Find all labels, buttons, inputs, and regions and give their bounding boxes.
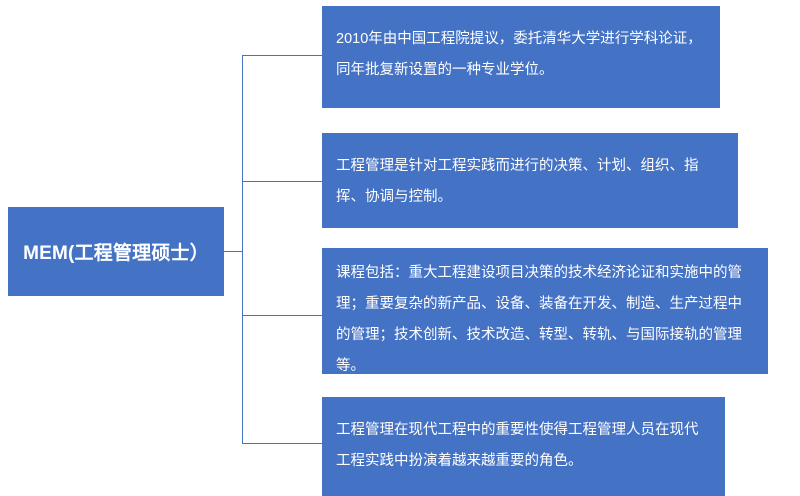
root-node-label: MEM(工程管理硕士） (23, 238, 209, 265)
branch-node-3[interactable]: 课程包括：重大工程建设项目决策的技术经济论证和实施中的管理；重要复杂的新产品、设… (322, 248, 768, 374)
diagram-canvas: MEM(工程管理硕士） 2010年由中国工程院提议，委托清华大学进行学科论证，同… (0, 0, 800, 496)
branch-node-1-text: 2010年由中国工程院提议，委托清华大学进行学科论证，同年批复新设置的一种专业学… (336, 24, 706, 86)
branch-node-4[interactable]: 工程管理在现代工程中的重要性使得工程管理人员在现代工程实践中扮演着越来越重要的角… (322, 397, 725, 496)
connector-branch-2 (242, 181, 322, 182)
connector-branch-3 (242, 315, 322, 316)
root-node[interactable]: MEM(工程管理硕士） (8, 207, 224, 296)
connector-branch-1 (242, 55, 322, 56)
branch-node-2-text: 工程管理是针对工程实践而进行的决策、计划、组织、指挥、协调与控制。 (336, 151, 724, 213)
branch-node-2[interactable]: 工程管理是针对工程实践而进行的决策、计划、组织、指挥、协调与控制。 (322, 133, 738, 228)
connector-trunk (242, 55, 243, 444)
connector-root-stub (224, 251, 242, 252)
connector-branch-4 (242, 443, 322, 444)
branch-node-4-text: 工程管理在现代工程中的重要性使得工程管理人员在现代工程实践中扮演着越来越重要的角… (336, 415, 711, 477)
branch-node-3-text: 课程包括：重大工程建设项目决策的技术经济论证和实施中的管理；重要复杂的新产品、设… (336, 258, 754, 382)
branch-node-1[interactable]: 2010年由中国工程院提议，委托清华大学进行学科论证，同年批复新设置的一种专业学… (322, 6, 720, 108)
